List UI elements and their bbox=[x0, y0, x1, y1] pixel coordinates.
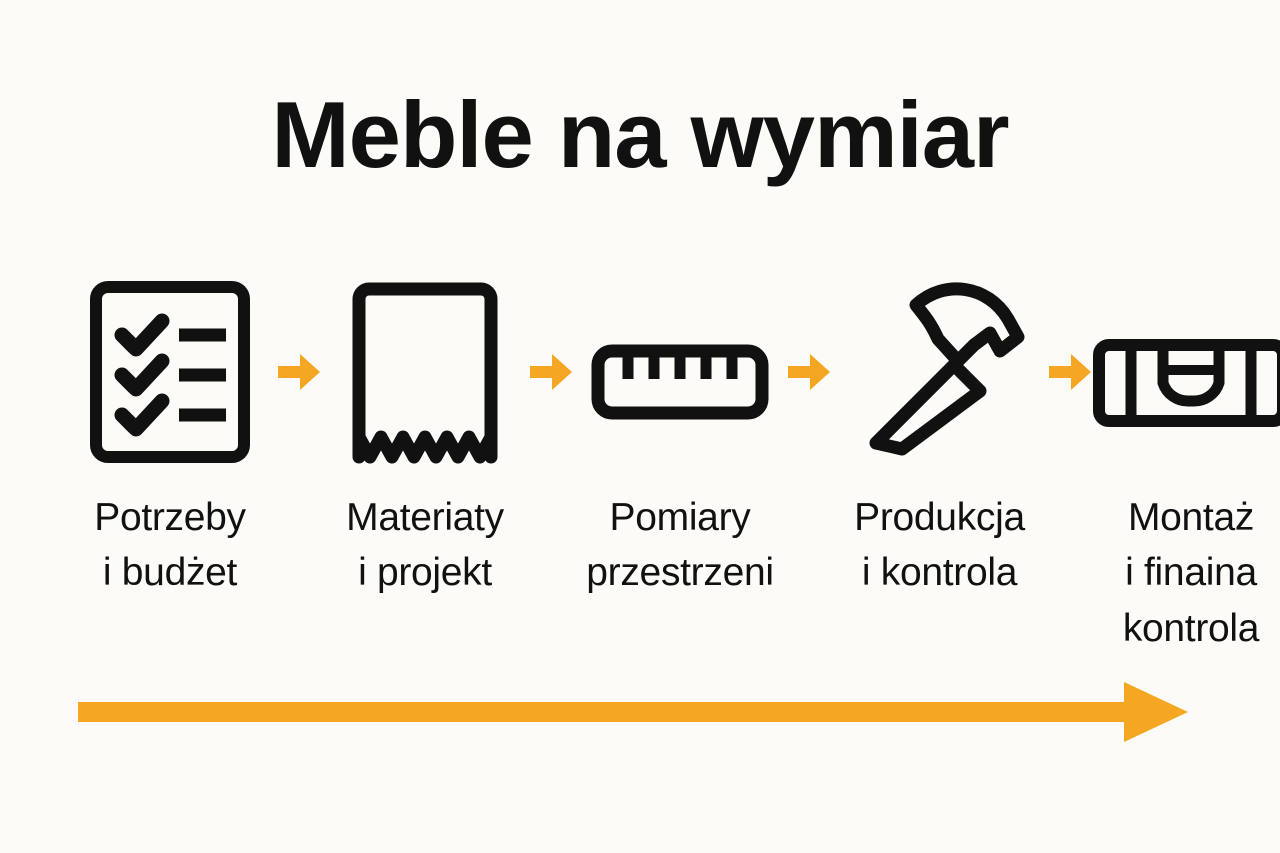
step-label-line: Materiaty bbox=[346, 490, 504, 545]
process-step-1-label: Potrzeby i budżet bbox=[94, 490, 246, 601]
process-step-4[interactable]: Produkcja i kontrola bbox=[832, 272, 1047, 601]
ruler-icon bbox=[590, 272, 770, 472]
process-steps: Potrzeby i budżet Materiaty i projekt bbox=[64, 272, 1216, 672]
step-label-line: i budżet bbox=[94, 545, 246, 600]
process-step-5-label: Montaż i finaina kontrola bbox=[1123, 490, 1259, 656]
step-label-line: kontrola bbox=[1123, 601, 1259, 656]
receipt-icon bbox=[345, 272, 505, 472]
step-label-line: przestrzeni bbox=[586, 545, 773, 600]
arrow-right-icon bbox=[278, 354, 320, 390]
connector-3 bbox=[786, 272, 832, 472]
process-step-3-label: Pomiary przestrzeni bbox=[586, 490, 773, 601]
step-label-line: Produkcja bbox=[854, 490, 1025, 545]
spirit-level-icon bbox=[1091, 272, 1280, 472]
process-step-4-label: Produkcja i kontrola bbox=[854, 490, 1025, 601]
step-label-line: i finaina bbox=[1123, 545, 1259, 600]
step-label-line: i projekt bbox=[346, 545, 504, 600]
process-step-2-label: Materiaty i projekt bbox=[346, 490, 504, 601]
arrow-right-icon bbox=[788, 354, 830, 390]
connector-4 bbox=[1047, 272, 1093, 472]
infographic-canvas: Meble na wymiar Potrzeby i budżet bbox=[0, 0, 1280, 853]
step-label-line: Montaż bbox=[1123, 490, 1259, 545]
checklist-icon bbox=[86, 272, 254, 472]
process-step-5[interactable]: Montaż i finaina kontrola bbox=[1093, 272, 1280, 656]
step-label-line: Potrzeby bbox=[94, 490, 246, 545]
process-step-3[interactable]: Pomiary przestrzeni bbox=[574, 272, 786, 601]
process-step-1[interactable]: Potrzeby i budżet bbox=[64, 272, 276, 601]
arrow-right-icon bbox=[530, 354, 572, 390]
arrow-right-icon bbox=[1049, 354, 1091, 390]
step-label-line: Pomiary bbox=[586, 490, 773, 545]
hammer-icon bbox=[850, 272, 1030, 472]
page-title: Meble na wymiar bbox=[0, 88, 1280, 182]
connector-1 bbox=[276, 272, 322, 472]
process-step-2[interactable]: Materiaty i projekt bbox=[322, 272, 528, 601]
long-arrow-right-icon bbox=[78, 682, 1188, 742]
timeline-arrow bbox=[78, 682, 1188, 742]
connector-2 bbox=[528, 272, 574, 472]
step-label-line: i kontrola bbox=[854, 545, 1025, 600]
